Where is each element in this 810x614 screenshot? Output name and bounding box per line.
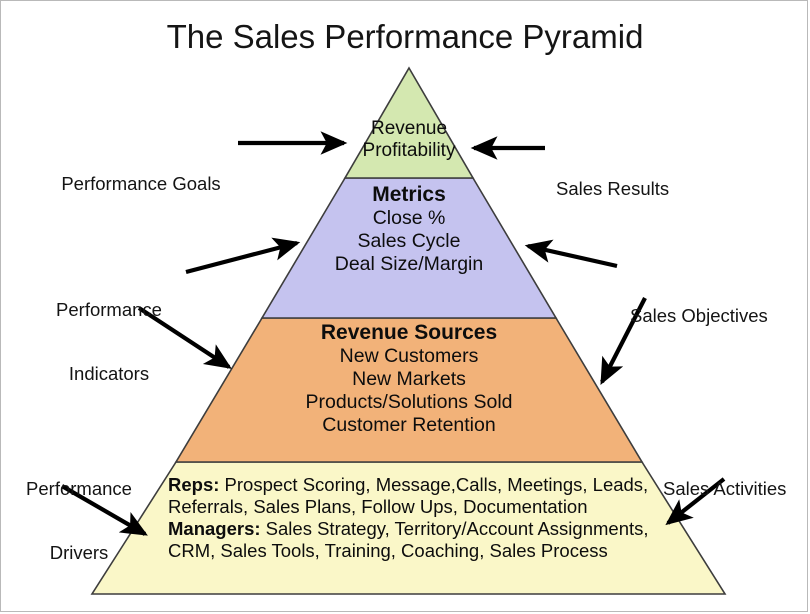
revenue-sources-heading: Revenue Sources <box>249 321 569 345</box>
base-row-3-label: Managers: <box>168 518 261 539</box>
metrics-line-3: Deal Size/Margin <box>289 253 529 276</box>
revenue-sources-line-4: Customer Retention <box>249 414 569 437</box>
label-performance-goals: Performance Goals <box>48 130 234 237</box>
label-sales-objectives: Sales Objectives <box>630 262 808 369</box>
base-row-3-text: Sales Strategy, Territory/Account Assign… <box>261 518 649 539</box>
metrics-line-1: Close % <box>289 207 529 230</box>
diagram-canvas: The Sales Performance Pyramid Revenue Pr… <box>0 0 810 614</box>
label-performance-indicators-line-1: Performance <box>34 299 184 320</box>
revenue-sources-line-1: New Customers <box>249 345 569 368</box>
base-row-1: Reps: Prospect Scoring, Message,Calls, M… <box>168 474 658 496</box>
label-sales-activities-line-1: Sales Activities <box>663 478 810 499</box>
label-performance-indicators-line-2: Indicators <box>34 363 184 384</box>
base-row-1-label: Reps: <box>168 474 219 495</box>
apex-line-2: Profitability <box>329 140 489 162</box>
metrics-heading: Metrics <box>289 183 529 207</box>
label-sales-results-line-1: Sales Results <box>556 178 736 199</box>
base-row-4-text: CRM, Sales Tools, Training, Coaching, Sa… <box>168 540 608 561</box>
base-row-1-text: Prospect Scoring, Message,Calls, Meeting… <box>219 474 648 495</box>
arrow-sales-objectives <box>528 246 617 266</box>
metrics-line-2: Sales Cycle <box>289 230 529 253</box>
label-sales-objectives-line-1: Sales Objectives <box>630 305 808 326</box>
label-performance-drivers: Performance Drivers <box>4 435 154 607</box>
level-metrics-text: Metrics Close % Sales Cycle Deal Size/Ma… <box>289 183 529 276</box>
label-sales-results: Sales Results <box>556 135 736 242</box>
level-revenue-sources-text: Revenue Sources New Customers New Market… <box>249 321 569 437</box>
label-performance-drivers-line-1: Performance <box>4 478 154 499</box>
apex-line-1: Revenue <box>329 118 489 140</box>
label-performance-indicators: Performance Indicators <box>34 256 184 428</box>
label-sales-activities: Sales Activities <box>663 435 810 542</box>
page-title: The Sales Performance Pyramid <box>0 18 810 56</box>
base-row-3: Managers: Sales Strategy, Territory/Acco… <box>168 518 658 540</box>
label-performance-goals-line-1: Performance Goals <box>48 173 234 194</box>
label-performance-drivers-line-2: Drivers <box>4 542 154 563</box>
arrow-performance-indicators <box>186 243 297 272</box>
level-apex-text: Revenue Profitability <box>329 118 489 162</box>
level-base-text: Reps: Prospect Scoring, Message,Calls, M… <box>168 474 658 562</box>
base-row-2: Referrals, Sales Plans, Follow Ups, Docu… <box>168 496 658 518</box>
revenue-sources-line-3: Products/Solutions Sold <box>249 391 569 414</box>
base-row-4: CRM, Sales Tools, Training, Coaching, Sa… <box>168 540 658 562</box>
base-row-2-text: Referrals, Sales Plans, Follow Ups, Docu… <box>168 496 588 517</box>
revenue-sources-line-2: New Markets <box>249 368 569 391</box>
